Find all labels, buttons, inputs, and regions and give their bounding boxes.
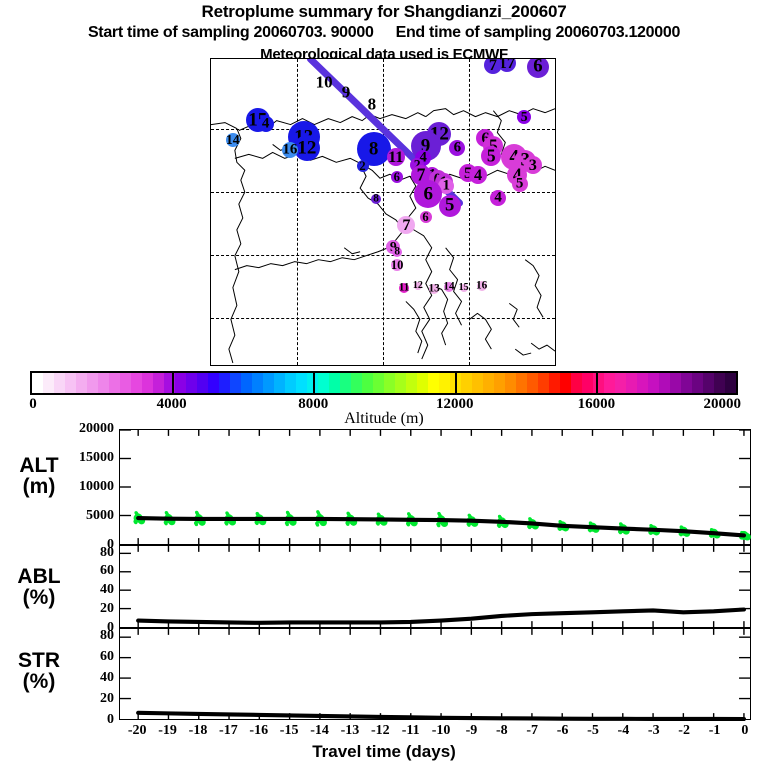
alt-unit: (m) [6,476,72,497]
colorbar-swatch [241,373,252,393]
y-tick-label: 15000 [70,450,114,466]
colorbar-swatch [340,373,351,393]
str-name: STR [6,650,72,671]
map-marker-label: 6 [424,184,434,203]
alt-scatter-point [346,512,349,515]
colorbar-swatch [98,373,109,393]
alt-scatter-point [407,512,410,515]
map-marker-label: 13 [429,284,440,295]
map-marker-label: 16 [476,281,487,292]
map-marker-label: 14 [226,133,240,147]
x-tick-label: 0 [741,723,748,739]
x-tick-label: -4 [618,723,630,739]
y-tick-label: 40 [70,582,114,598]
colorbar-swatch [659,373,670,393]
map-marker-label: 5 [445,197,454,216]
map-marker-label: 10 [316,74,333,91]
colorbar-swatch [604,373,615,393]
altitude-panel[interactable] [119,429,751,545]
colorbar-swatch [373,373,384,393]
map-marker-label: 7 [489,58,497,73]
colorbar-swatch [670,373,681,393]
alt-scatter-point [286,511,289,514]
colorbar-swatch [274,373,285,393]
colorbar-swatch [318,373,329,393]
map-marker-label: 11 [388,149,403,165]
map-marker-label: 8 [368,95,377,112]
colorbar-swatch [637,373,648,393]
x-tick-label: -13 [341,723,360,739]
map-marker-label: 8 [369,140,379,159]
map-marker-label: 12 [413,281,423,291]
colorbar-swatch [131,373,142,393]
str-panel[interactable] [119,628,751,720]
alt-scatter-point [437,512,440,515]
colorbar-swatch [252,373,263,393]
y-tick-label: 40 [70,670,114,686]
x-tick-label: -3 [648,723,660,739]
colorbar-swatch [76,373,87,393]
map-marker-label: 3 [529,157,537,173]
x-tick-label: -8 [496,723,508,739]
colorbar-swatch [285,373,296,393]
sampling-time-line: Start time of sampling 20060703. 90000En… [0,24,768,42]
colorbar-swatch [120,373,131,393]
colorbar-axis-title: Altitude (m) [0,410,768,428]
map-marker-label: 15 [459,283,469,293]
colorbar-swatch [549,373,560,393]
map-marker-label: 6 [422,210,428,223]
map-marker-label: 6 [454,140,462,155]
map-marker-label: 8 [373,194,379,205]
trajectory-line [211,59,555,365]
y-tick-label: 20000 [70,421,114,437]
y-tick-label: 0 [70,712,114,728]
colorbar-swatch [43,373,54,393]
colorbar-separator [313,371,315,395]
colorbar-swatch [505,373,516,393]
x-tick-label: -12 [371,723,390,739]
colorbar-swatch [186,373,197,393]
colorbar-swatch [428,373,439,393]
colorbar-swatch [329,373,340,393]
end-time-label: End time of sampling 20060703.120000 [396,24,680,41]
x-tick-label: -5 [587,723,599,739]
y-tick-label: 10000 [70,479,114,495]
alt-row-label: ALT (m) [6,455,72,498]
alt-scatter-point [316,510,319,513]
altitude-colorbar[interactable] [30,371,738,395]
abl-panel[interactable] [119,545,751,628]
colorbar-swatch [54,373,65,393]
y-tick-label: 80 [70,545,114,561]
x-tick-label: -11 [402,723,420,739]
x-tick-label: -10 [432,723,451,739]
colorbar-separator [172,371,174,395]
colorbar-swatch [626,373,637,393]
colorbar-swatch [494,373,505,393]
colorbar-swatch [142,373,153,393]
x-tick-label: -19 [158,723,177,739]
alt-scatter-point [195,511,198,514]
map-marker-label: 8 [394,247,400,258]
map-marker-label: 12 [297,139,316,158]
x-tick-label: -6 [557,723,569,739]
map-marker-label: 6 [533,58,542,76]
map-marker-label: 2 [359,160,365,173]
colorbar-swatch [516,373,527,393]
colorbar-swatch [527,373,538,393]
colorbar-swatch [109,373,120,393]
x-tick-label: -16 [249,723,268,739]
y-tick-label: 5000 [70,508,114,524]
x-tick-label: -2 [678,723,690,739]
colorbar-swatch [87,373,98,393]
retroplume-map[interactable]: 1776109851541413121612948656511433225471… [210,58,556,366]
x-tick-label: -15 [280,723,299,739]
colorbar-swatch [538,373,549,393]
colorbar-swatch [197,373,208,393]
colorbar-swatch [208,373,219,393]
y-tick-label: 60 [70,563,114,579]
page-title: Retroplume summary for Shangdianzi_20060… [0,2,768,22]
x-tick-label: -17 [219,723,238,739]
colorbar-swatch [219,373,230,393]
map-marker-label: 6 [394,170,400,183]
colorbar-swatch [472,373,483,393]
map-marker-label: 9 [342,84,351,101]
str-unit: (%) [6,671,72,692]
y-tick-label: 20 [70,601,114,617]
y-tick-label: 20 [70,691,114,707]
y-tick-label: 60 [70,649,114,665]
colorbar-swatch [560,373,571,393]
colorbar-swatch [32,373,43,393]
map-marker-label: 4 [474,166,482,182]
x-tick-label: -9 [466,723,478,739]
abl-row-label: ABL (%) [6,566,72,609]
alt-name: ALT [6,455,72,476]
colorbar-swatch [483,373,494,393]
colorbar-swatch [461,373,472,393]
map-marker-label: 5 [487,147,496,165]
colorbar-swatch [362,373,373,393]
map-marker-label: 5 [521,110,528,124]
map-marker-label: 11 [399,282,410,293]
colorbar-swatch [692,373,703,393]
colorbar-swatch [725,373,736,393]
x-tick-label: -18 [189,723,208,739]
colorbar-swatch [263,373,274,393]
map-marker-label: 7 [402,217,410,233]
colorbar-swatch [703,373,714,393]
colorbar-swatch [681,373,692,393]
map-marker-label: 16 [282,143,297,158]
colorbar-swatch [582,373,593,393]
x-tick-label: -20 [128,723,147,739]
map-marker-label: 4 [262,117,270,132]
y-tick-label: 80 [70,628,114,644]
x-axis-title: Travel time (days) [0,742,768,762]
colorbar-swatch [153,373,164,393]
series-line [138,610,744,623]
colorbar-swatch [384,373,395,393]
colorbar-swatch [571,373,582,393]
map-marker-label: 14 [443,281,454,292]
alt-scatter-point [165,511,168,514]
colorbar-separator [596,371,598,395]
abl-unit: (%) [6,587,72,608]
colorbar-swatch [65,373,76,393]
x-tick-label: -1 [709,723,721,739]
colorbar-swatch [615,373,626,393]
colorbar-swatch [648,373,659,393]
start-time-label: Start time of sampling 20060703. 90000 [88,24,374,41]
map-marker-label: 10 [391,259,404,272]
abl-name: ABL [6,566,72,587]
alt-scatter-point [225,511,228,514]
x-tick-label: -7 [526,723,538,739]
colorbar-swatch [351,373,362,393]
colorbar-swatch [395,373,406,393]
colorbar-swatch [714,373,725,393]
colorbar-swatch [417,373,428,393]
colorbar-swatch [230,373,241,393]
colorbar-separator [455,371,457,395]
colorbar-swatch [593,373,604,393]
colorbar-swatch [406,373,417,393]
str-row-label: STR (%) [6,650,72,693]
map-marker-label: 1 [443,178,451,193]
colorbar-swatch [175,373,186,393]
colorbar-swatch [296,373,307,393]
x-tick-label: -14 [310,723,329,739]
map-marker-label: 4 [494,191,502,206]
map-marker-label: 5 [516,176,524,191]
colorbar-swatch [439,373,450,393]
